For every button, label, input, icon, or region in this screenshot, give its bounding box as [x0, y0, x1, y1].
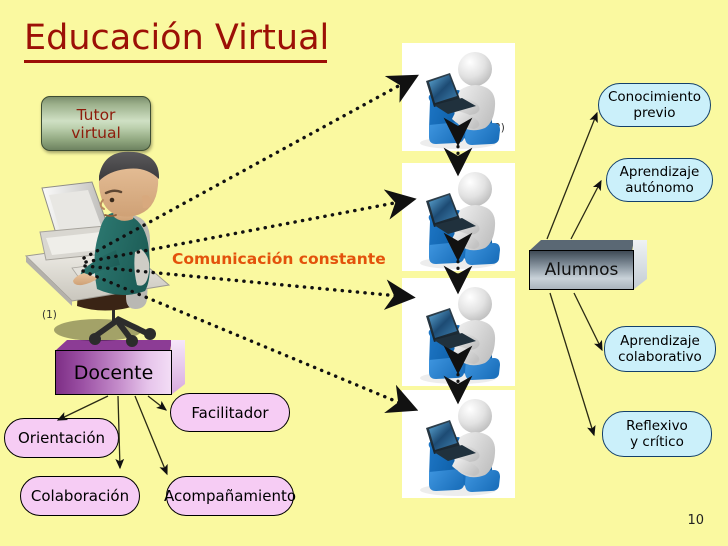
tutor-virtual-button[interactable]: Tutor virtual — [41, 96, 151, 151]
marker-student-2: (2) — [490, 122, 505, 134]
pill-aprendizaje-autonomo[interactable]: Aprendizaje autónomo — [606, 158, 713, 202]
pill-aprendizaje-autonomo-line-1: Aprendizaje — [620, 164, 700, 180]
pill-aprendizaje-colaborativo-line-1: Aprendizaje — [620, 333, 700, 349]
title-underline — [24, 60, 327, 63]
pill-conocimiento-previo-line-1: Conocimiento — [608, 89, 701, 105]
marker-teacher-1: (1) — [42, 309, 57, 321]
line-docente-acompanamiento — [135, 396, 167, 474]
tutor-virtual-label: Tutor virtual — [71, 106, 121, 142]
pill-aprendizaje-colaborativo-line-2: colaborativo — [618, 349, 702, 365]
tutor-virtual-line-2: virtual — [71, 124, 121, 142]
pill-colaboracion-label: Colaboración — [31, 487, 129, 505]
docente-label: Docente — [74, 362, 154, 384]
docente-box-face: Docente — [55, 350, 172, 395]
pill-facilitador[interactable]: Facilitador — [170, 393, 290, 432]
line-alumnos-aprendizaje-colaborativo — [574, 293, 602, 350]
line-alumnos-reflexivo — [550, 293, 594, 435]
pill-facilitador-label: Facilitador — [191, 404, 268, 422]
line-alumnos-conocimiento — [547, 113, 597, 239]
pill-aprendizaje-autonomo-line-2: autónomo — [625, 180, 694, 196]
comunicacion-constante-label: Comunicación constante — [172, 250, 386, 268]
pill-conocimiento-previo-line-2: previo — [633, 105, 675, 121]
pill-aprendizaje-colaborativo[interactable]: Aprendizaje colaborativo — [604, 326, 716, 372]
line-docente-facilitador — [148, 396, 166, 410]
student-panel-4 — [402, 390, 515, 498]
pill-reflexivo-critico-line-2: y crítico — [630, 434, 684, 450]
alumnos-node[interactable]: Alumnos — [529, 240, 634, 290]
line-teacher-student-3 — [85, 266, 409, 297]
student-panel-1 — [402, 43, 515, 151]
docente-node[interactable]: Docente — [55, 340, 172, 395]
pill-orientacion-label: Orientación — [18, 429, 105, 447]
student-panel-3 — [402, 278, 515, 386]
pill-reflexivo-critico-line-1: Reflexivo — [626, 418, 688, 434]
page-number: 10 — [687, 513, 704, 528]
line-alumnos-aprendizaje-autonomo — [571, 181, 601, 239]
line-docente-orientacion — [58, 396, 108, 420]
student-panel-2 — [402, 163, 515, 271]
alumnos-box-face: Alumnos — [529, 250, 634, 290]
alumnos-label: Alumnos — [545, 260, 619, 280]
pill-orientacion[interactable]: Orientación — [4, 418, 119, 458]
pill-colaboracion[interactable]: Colaboración — [20, 476, 140, 516]
pill-acompanamiento-label: Acompañamiento — [164, 487, 296, 505]
docente-box-side — [171, 340, 185, 395]
pill-reflexivo-critico[interactable]: Reflexivo y crítico — [602, 411, 712, 457]
slide-canvas: Educación Virtual Tutor virtual Docente … — [0, 0, 728, 546]
tutor-virtual-line-1: Tutor — [77, 106, 116, 124]
page-title: Educación Virtual — [24, 18, 329, 58]
pill-conocimiento-previo[interactable]: Conocimiento previo — [598, 83, 711, 127]
alumnos-box-side — [633, 240, 647, 290]
pill-acompanamiento[interactable]: Acompañamiento — [166, 476, 294, 516]
